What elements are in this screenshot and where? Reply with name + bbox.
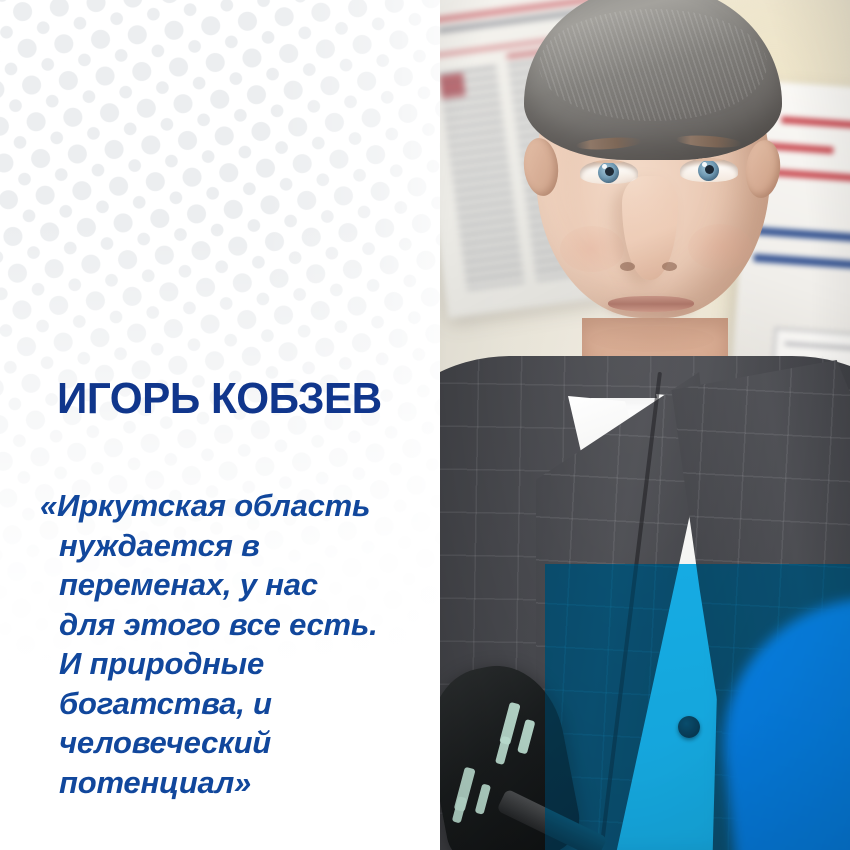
mouth (608, 296, 694, 312)
quote-card: ИГОРЬ КОБЗЕВ «Иркутская область нуждаетс… (0, 0, 850, 850)
poster-blue-text-line (754, 254, 850, 272)
left-text-panel: ИГОРЬ КОБЗЕВ «Иркутская область нуждаетс… (0, 0, 440, 850)
poster-red-text-line (782, 116, 850, 130)
eye-glint (702, 162, 707, 167)
microphone-logo-mark (474, 783, 490, 814)
quote-line: для этого все есть. (40, 605, 420, 645)
quote-line: И природные (40, 644, 420, 684)
pupil (605, 167, 614, 176)
microphone-logo-mark (517, 719, 535, 754)
poster-blue-text-line (756, 227, 850, 246)
eye-right (680, 158, 738, 182)
hair (524, 0, 782, 160)
poster-form-line (784, 342, 850, 350)
quote-line: потенциал» (40, 763, 420, 803)
pupil (705, 165, 714, 174)
microphone-logo-mark (495, 735, 511, 764)
portrait-photograph (440, 0, 850, 850)
person-name-heading: ИГОРЬ КОБЗЕВ (57, 376, 382, 422)
blue-accent-overlay-highlight (545, 564, 850, 850)
chin-shadow (590, 326, 714, 352)
nostril-left (620, 262, 635, 271)
eye-glint (602, 164, 607, 169)
text-block: ИГОРЬ КОБЗЕВ «Иркутская область нуждаетс… (0, 0, 440, 850)
quote-line: «Иркутская область (40, 486, 420, 526)
quote-line: богатства, и (40, 684, 420, 724)
eye-left (580, 160, 638, 184)
cheek-left (560, 226, 624, 272)
quote-line: переменах, у нас (40, 565, 420, 605)
cheek-right (688, 224, 752, 270)
microphone-logo-mark (452, 795, 467, 822)
quote-line: нуждается в (40, 526, 420, 566)
quote-line: человеческий (40, 723, 420, 763)
quote-text: «Иркутская область нуждается в переменах… (40, 486, 420, 802)
nostril-right (662, 262, 677, 271)
